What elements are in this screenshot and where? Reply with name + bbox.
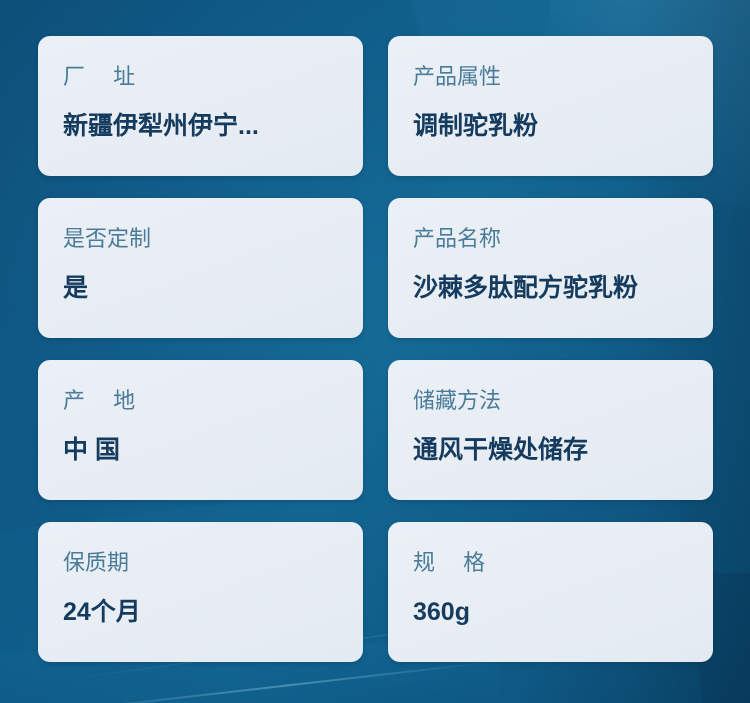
spec-label: 产 地 bbox=[63, 390, 363, 412]
spec-card: 厂 址 新疆伊犁州伊宁... bbox=[38, 36, 363, 176]
spec-card: 产 地 中 国 bbox=[38, 360, 363, 500]
product-spec-panel: 厂 址 新疆伊犁州伊宁... 产品属性 调制驼乳粉 是否定制 是 产品名称 沙棘… bbox=[0, 0, 750, 703]
light-ray-primary bbox=[31, 660, 498, 703]
spec-card: 规 格 360g bbox=[388, 522, 713, 662]
spec-value: 调制驼乳粉 bbox=[413, 113, 713, 141]
spec-label: 规 格 bbox=[413, 552, 713, 574]
spec-label: 是否定制 bbox=[63, 228, 363, 250]
spec-label: 储藏方法 bbox=[413, 390, 713, 412]
spec-card: 产品属性 调制驼乳粉 bbox=[388, 36, 713, 176]
spec-card: 是否定制 是 bbox=[38, 198, 363, 338]
spec-value: 360g bbox=[413, 599, 713, 627]
spec-value: 中 国 bbox=[63, 437, 363, 465]
spec-label: 保质期 bbox=[63, 552, 363, 574]
spec-value: 沙棘多肽配方驼乳粉 bbox=[413, 275, 713, 303]
spec-label: 产品属性 bbox=[413, 66, 713, 88]
spec-card-grid: 厂 址 新疆伊犁州伊宁... 产品属性 调制驼乳粉 是否定制 是 产品名称 沙棘… bbox=[38, 36, 713, 662]
spec-card: 储藏方法 通风干燥处储存 bbox=[388, 360, 713, 500]
spec-card: 产品名称 沙棘多肽配方驼乳粉 bbox=[388, 198, 713, 338]
spec-value: 新疆伊犁州伊宁... bbox=[63, 113, 363, 141]
spec-card: 保质期 24个月 bbox=[38, 522, 363, 662]
spec-label: 厂 址 bbox=[63, 66, 363, 88]
spec-label: 产品名称 bbox=[413, 228, 713, 250]
spec-value: 24个月 bbox=[63, 599, 363, 627]
spec-value: 通风干燥处储存 bbox=[413, 437, 713, 465]
spec-value: 是 bbox=[63, 275, 363, 303]
